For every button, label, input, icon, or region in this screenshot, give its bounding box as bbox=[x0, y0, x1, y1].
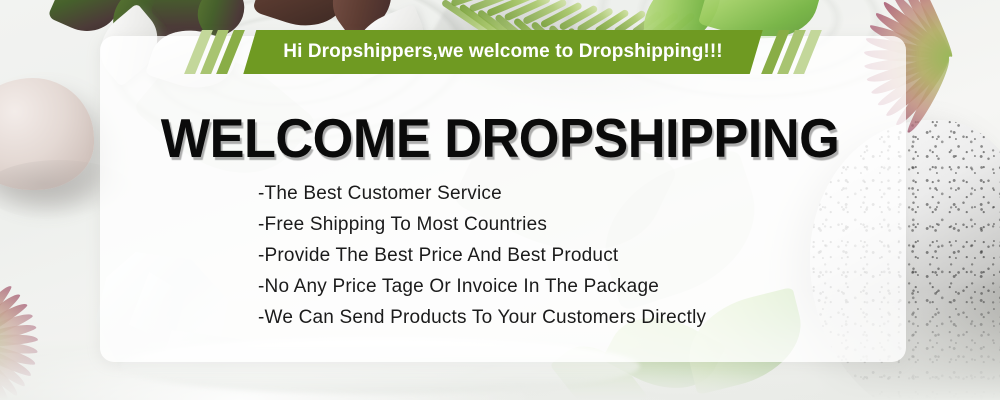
benefit-item: -No Any Price Tage Or Invoice In The Pac… bbox=[258, 271, 918, 302]
succulent-blade-decor bbox=[0, 282, 14, 347]
ribbon-text: Hi Dropshippers,we welcome to Dropshippi… bbox=[283, 41, 722, 63]
sprig-needle-decor bbox=[522, 0, 567, 25]
ribbon-stripes-right bbox=[770, 30, 813, 74]
succulent-blade-decor bbox=[0, 341, 4, 400]
succulent-blade-decor bbox=[0, 299, 29, 349]
succulent-blade-decor bbox=[0, 338, 38, 355]
benefit-item: -Provide The Best Price And Best Product bbox=[258, 240, 918, 271]
sprig-needle-decor bbox=[504, 0, 551, 21]
succulent-blade-decor bbox=[898, 0, 954, 61]
succulent-blade-decor bbox=[0, 338, 37, 367]
headline-title: WELCOME DROPSHIPPING bbox=[25, 108, 975, 168]
succulent-blade-decor bbox=[0, 340, 13, 400]
ribbon-stripes-left bbox=[193, 30, 236, 74]
sprig-needle-decor bbox=[451, 0, 505, 7]
sprig-needle-decor bbox=[558, 4, 598, 31]
succulent-blade-decor bbox=[0, 289, 22, 347]
sprig-needle-decor bbox=[468, 0, 520, 12]
dropshipping-promo-banner: Hi Dropshippers,we welcome to Dropshippi… bbox=[0, 0, 1000, 400]
succulent-blade-decor bbox=[910, 0, 955, 60]
ribbon-header: Hi Dropshippers,we welcome to Dropshippi… bbox=[100, 30, 906, 74]
succulent-blade-decor bbox=[0, 332, 38, 349]
succulent-blade-decor bbox=[0, 309, 34, 349]
succulent-blade-decor bbox=[0, 339, 22, 398]
sprig-needle-decor bbox=[540, 1, 583, 28]
succulent-blade-decor bbox=[0, 320, 37, 349]
succulent-blade-decor bbox=[0, 338, 34, 378]
benefit-item: -The Best Customer Service bbox=[258, 178, 918, 209]
ribbon-bar: Hi Dropshippers,we welcome to Dropshippi… bbox=[243, 30, 762, 74]
sprig-needle-decor bbox=[486, 0, 536, 17]
succulent-blade-decor bbox=[0, 339, 29, 389]
benefit-item: -Free Shipping To Most Countries bbox=[258, 209, 918, 240]
benefit-item: -We Can Send Products To Your Customers … bbox=[258, 302, 918, 333]
benefit-list: -The Best Customer Service-Free Shipping… bbox=[258, 178, 918, 333]
